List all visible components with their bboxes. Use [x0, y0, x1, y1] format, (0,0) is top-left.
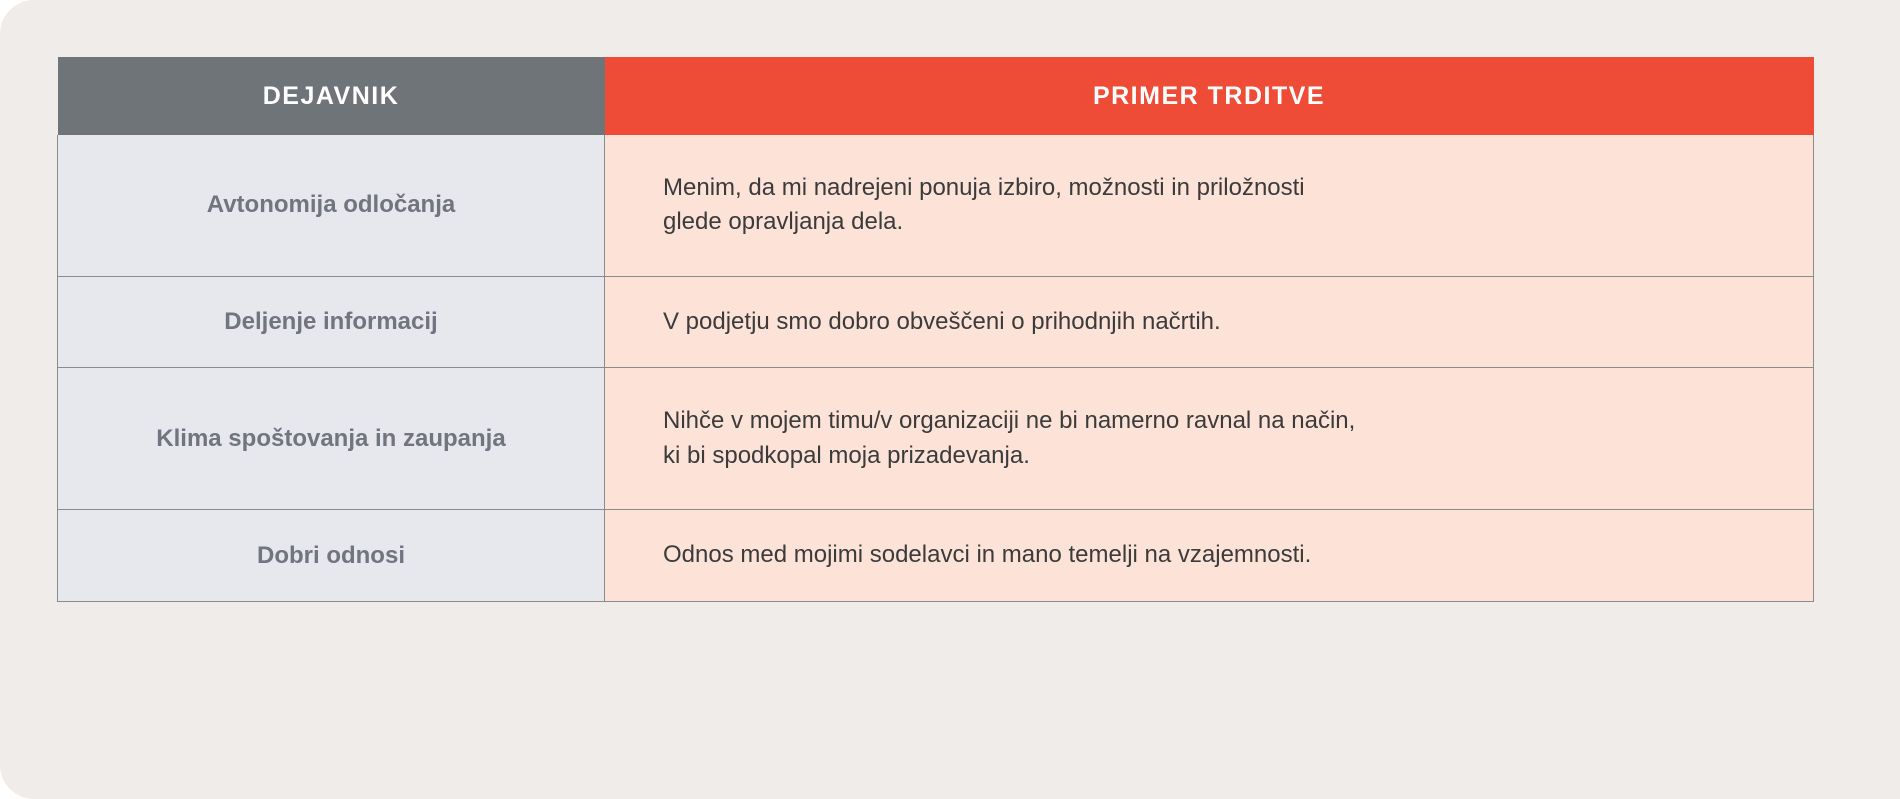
factor-label: Avtonomija odločanja: [58, 135, 605, 276]
statement-line: Odnos med mojimi sodelavci in mano temel…: [663, 538, 1813, 573]
statement-text: Nihče v mojem timu/v organizaciji ne bi …: [605, 368, 1814, 510]
table-header: DEJAVNIK PRIMER TRDITVE: [58, 57, 1814, 135]
statement-line: Menim, da mi nadrejeni ponuja izbiro, mo…: [663, 171, 1813, 206]
table-row: Dobri odnosi Odnos med mojimi sodelavci …: [58, 510, 1814, 602]
table-header-row: DEJAVNIK PRIMER TRDITVE: [58, 57, 1814, 135]
table-row: Klima spoštovanja in zaupanja Nihče v mo…: [58, 368, 1814, 510]
statement-line: glede opravljanja dela.: [663, 205, 1813, 240]
statement-line: V podjetju smo dobro obveščeni o prihodn…: [663, 305, 1813, 340]
table-body: Avtonomija odločanja Menim, da mi nadrej…: [58, 135, 1814, 602]
statement-text: V podjetju smo dobro obveščeni o prihodn…: [605, 276, 1814, 368]
factors-table: DEJAVNIK PRIMER TRDITVE Avtonomija odloč…: [57, 57, 1814, 602]
table-row: Deljenje informacij V podjetju smo dobro…: [58, 276, 1814, 368]
statement-line: ki bi spodkopal moja prizadevanja.: [663, 439, 1813, 474]
factor-label: Deljenje informacij: [58, 276, 605, 368]
factors-table-container: DEJAVNIK PRIMER TRDITVE Avtonomija odloč…: [57, 57, 1813, 602]
page-card: DEJAVNIK PRIMER TRDITVE Avtonomija odloč…: [0, 0, 1900, 799]
factor-label: Dobri odnosi: [58, 510, 605, 602]
factor-label: Klima spoštovanja in zaupanja: [58, 368, 605, 510]
column-header-factor: DEJAVNIK: [58, 57, 605, 135]
table-row: Avtonomija odločanja Menim, da mi nadrej…: [58, 135, 1814, 276]
statement-line: Nihče v mojem timu/v organizaciji ne bi …: [663, 404, 1813, 439]
statement-text: Odnos med mojimi sodelavci in mano temel…: [605, 510, 1814, 602]
statement-text: Menim, da mi nadrejeni ponuja izbiro, mo…: [605, 135, 1814, 276]
column-header-statement: PRIMER TRDITVE: [605, 57, 1814, 135]
